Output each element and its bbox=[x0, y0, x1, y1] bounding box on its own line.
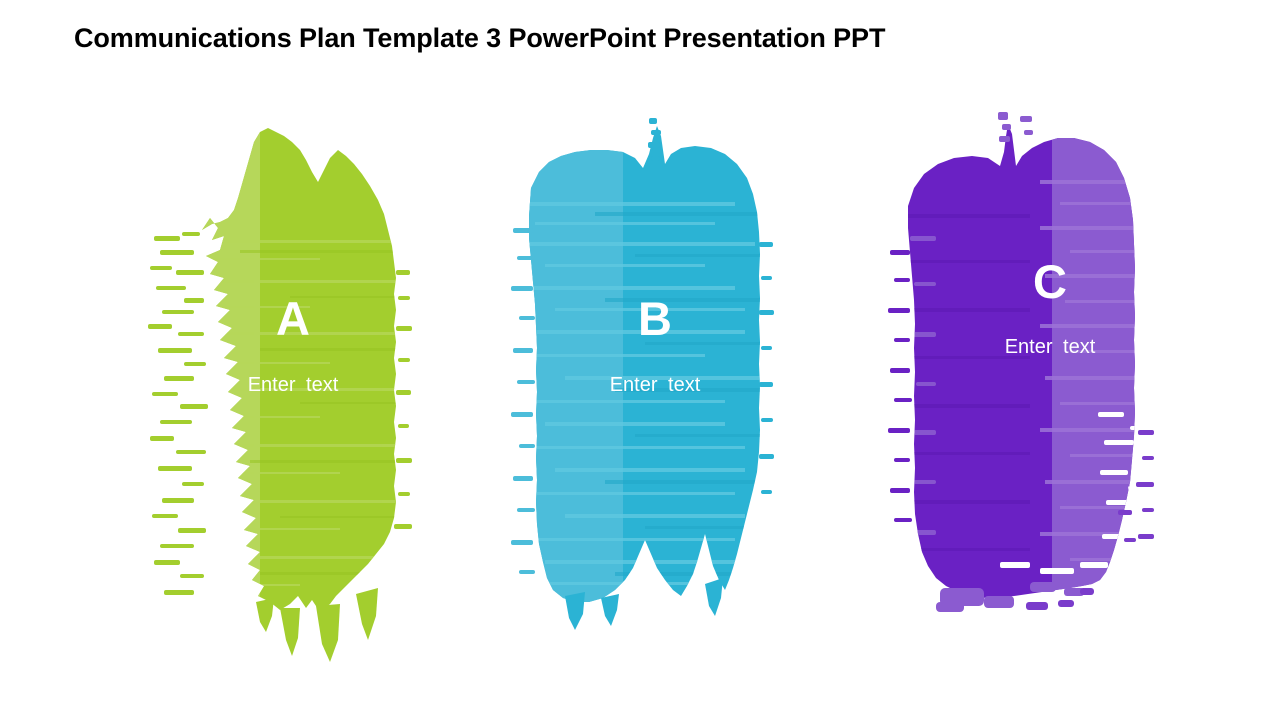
brush-card-a[interactable]: A Enter text bbox=[140, 110, 440, 670]
brush-stroke-row: A Enter text bbox=[0, 110, 1280, 670]
brush-label-b: B bbox=[505, 295, 805, 342]
brush-caption-a[interactable]: Enter text bbox=[143, 375, 443, 395]
brush-caption-b[interactable]: Enter text bbox=[505, 375, 805, 395]
page-title: Communications Plan Template 3 PowerPoin… bbox=[74, 22, 885, 54]
brush-stroke-purple-icon bbox=[880, 110, 1180, 670]
brush-label-a: A bbox=[143, 295, 443, 342]
brush-caption-c[interactable]: Enter text bbox=[900, 337, 1200, 357]
brush-label-c: C bbox=[900, 258, 1200, 305]
brush-card-c[interactable]: C Enter text bbox=[880, 110, 1180, 670]
slide-canvas: Communications Plan Template 3 PowerPoin… bbox=[0, 0, 1280, 720]
brush-card-b[interactable]: B Enter text bbox=[505, 110, 805, 670]
